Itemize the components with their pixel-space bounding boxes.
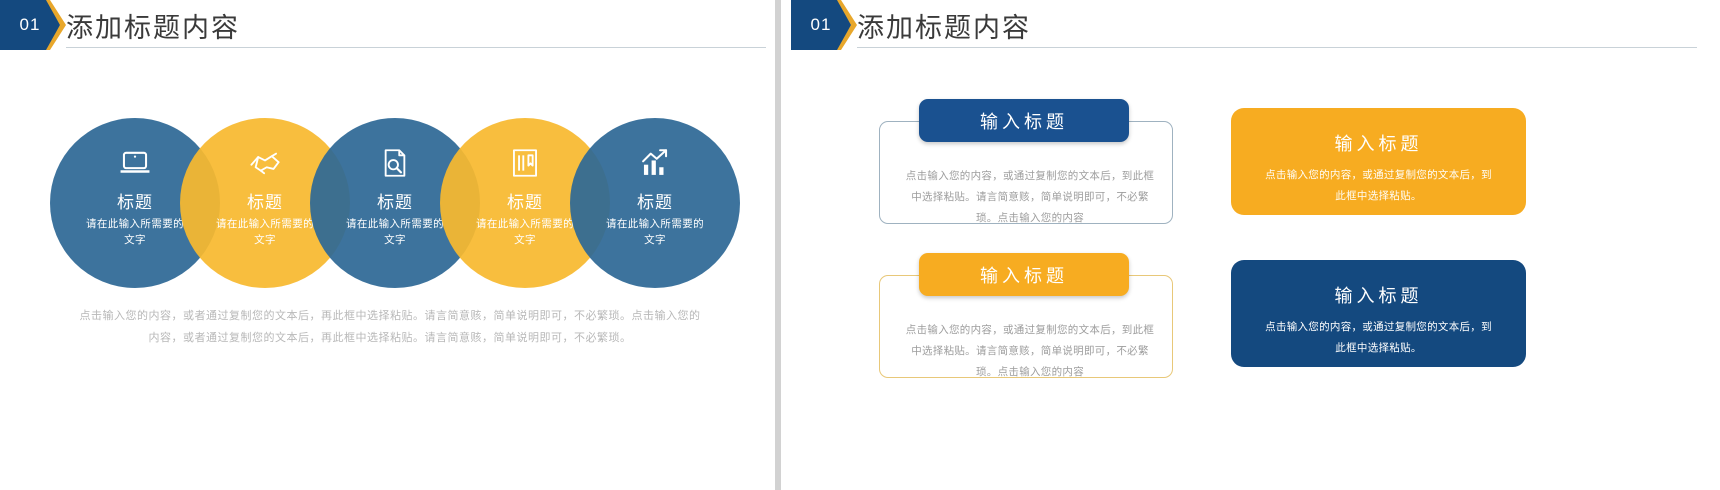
- card-body: 点击输入您的内容，或通过复制您的文本后，到此框中选择粘贴。: [1261, 165, 1497, 207]
- circle-title: 标题: [117, 188, 153, 213]
- slide-number-label: 01: [811, 15, 832, 35]
- header-rule: [66, 47, 766, 48]
- card-solid-blue[interactable]: 输入标题 点击输入您的内容，或通过复制您的文本后，到此框中选择粘贴。: [1231, 260, 1526, 367]
- slide-number-label: 01: [20, 15, 41, 35]
- handshake-icon: [248, 146, 282, 180]
- page-title: 添加标题内容: [66, 6, 240, 45]
- circle-subtitle: 请在此输入所需要的文字: [341, 216, 449, 249]
- slide-left: 01 添加标题内容 标题 请在此输入所需要的文字: [0, 0, 775, 490]
- circle-title: 标题: [507, 188, 543, 213]
- page-title: 添加标题内容: [857, 6, 1031, 45]
- card-title: 输入标题: [1335, 130, 1423, 156]
- card-title: 输入标题: [1335, 282, 1423, 308]
- card-body: 点击输入您的内容，或通过复制您的文本后，到此框中选择粘贴。请言简意赅，简单说明即…: [904, 166, 1156, 229]
- two-slide-canvas: 01 添加标题内容 标题 请在此输入所需要的文字: [0, 0, 1720, 490]
- card-title: 输入标题: [980, 262, 1068, 288]
- card-header-pill-blue[interactable]: 输入标题: [919, 99, 1129, 142]
- header-rule: [857, 47, 1697, 48]
- circle-title: 标题: [637, 188, 673, 213]
- circle-subtitle: 请在此输入所需要的文字: [81, 216, 189, 249]
- circle-subtitle: 请在此输入所需要的文字: [471, 216, 579, 249]
- card-title: 输入标题: [980, 108, 1068, 134]
- circle-subtitle: 请在此输入所需要的文字: [211, 216, 319, 249]
- slide-right-header: 01 添加标题内容: [781, 0, 1720, 52]
- bar-chart-up-icon: [638, 146, 672, 180]
- card-header-pill-gold[interactable]: 输入标题: [919, 253, 1129, 296]
- slide-left-header: 01 添加标题内容: [0, 0, 775, 52]
- book-icon: [508, 146, 542, 180]
- circle-title: 标题: [377, 188, 413, 213]
- card-body: 点击输入您的内容，或通过复制您的文本后，到此框中选择粘贴。请言简意赅，简单说明即…: [904, 320, 1156, 383]
- laptop-icon: [118, 146, 152, 180]
- card-body: 点击输入您的内容，或通过复制您的文本后，到此框中选择粘贴。: [1261, 317, 1497, 359]
- left-slide-paragraph: 点击输入您的内容，或者通过复制您的文本后，再此框中选择粘贴。请言简意赅，简单说明…: [76, 305, 704, 349]
- circle-item-5[interactable]: 标题 请在此输入所需要的文字: [570, 118, 740, 288]
- circle-subtitle: 请在此输入所需要的文字: [601, 216, 709, 249]
- card-solid-gold[interactable]: 输入标题 点击输入您的内容，或通过复制您的文本后，到此框中选择粘贴。: [1231, 108, 1526, 215]
- slide-right: 01 添加标题内容 点击输入您的内容，或通过复制您的文本后，到此框中选择粘贴。请…: [781, 0, 1720, 490]
- document-search-icon: [378, 146, 412, 180]
- circle-row: 标题 请在此输入所需要的文字 标题 请在此输入所需要的文字: [0, 118, 775, 298]
- circle-title: 标题: [247, 188, 283, 213]
